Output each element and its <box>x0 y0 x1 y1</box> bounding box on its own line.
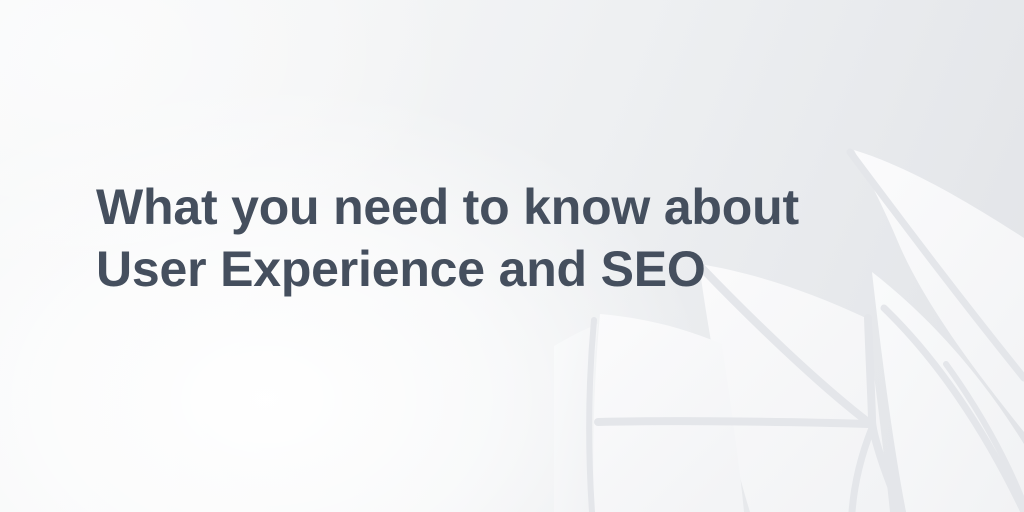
leaf-vein-outer-right-2 <box>946 364 1024 504</box>
leaf-petal-center <box>699 264 890 512</box>
headline-line-1: What you need to know about <box>96 176 886 238</box>
leaf-petal-far-left <box>554 324 598 512</box>
leaf-vein-outer-right <box>884 308 1024 512</box>
leaf-vein-lower-left <box>598 421 868 424</box>
page-title: What you need to know about User Experie… <box>96 176 886 300</box>
leaf-vein-outer-left <box>589 320 594 512</box>
leaf-petal-lower-left <box>593 314 744 512</box>
leaf-vein-branch-lower <box>852 428 872 512</box>
hero-banner: What you need to know about User Experie… <box>0 0 1024 512</box>
leaf-petal-middle-right <box>872 272 1024 512</box>
leaf-vein-midrib <box>868 318 902 512</box>
headline-line-2: User Experience and SEO <box>96 238 886 300</box>
